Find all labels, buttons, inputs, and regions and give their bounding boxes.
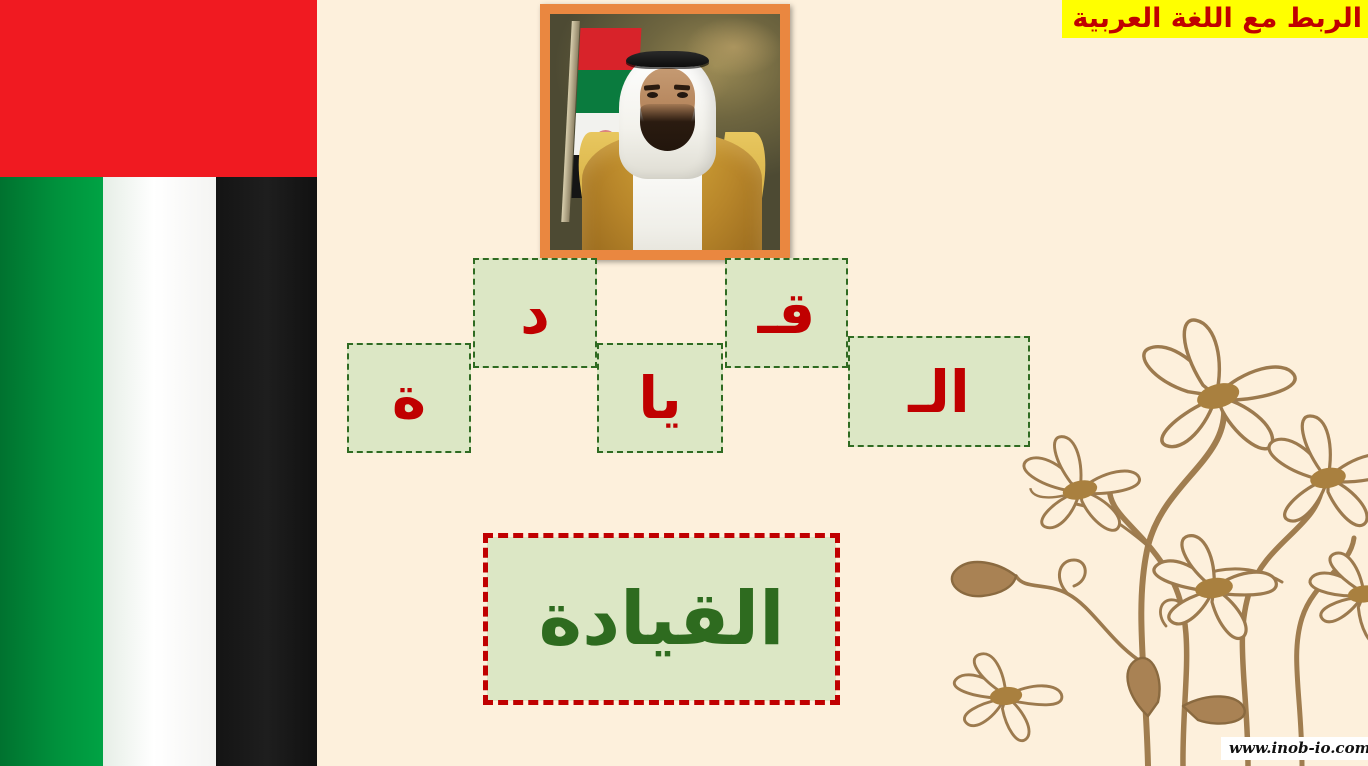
- letter-tile-qa-label: قـ: [758, 284, 816, 342]
- slide-canvas: الربط مع اللغة العربية الـ: [0, 0, 1368, 766]
- floral-decoration: [898, 246, 1368, 766]
- uae-flag-red-band: [0, 0, 317, 177]
- uae-flag-green-band: [0, 177, 103, 766]
- letter-tile-al[interactable]: الـ: [848, 336, 1030, 447]
- portrait-eyebrow-right: [674, 84, 690, 90]
- page-title: الربط مع اللغة العربية: [1062, 0, 1368, 38]
- letter-tile-ya[interactable]: يا: [597, 343, 723, 453]
- uae-flag: [0, 0, 317, 766]
- portrait-agal: [626, 51, 709, 68]
- portrait-eye-right: [677, 92, 689, 98]
- watermark: www.inob-io.com: [1221, 737, 1368, 760]
- answer-word-box[interactable]: القيادة: [487, 537, 836, 701]
- letter-tile-qa[interactable]: قـ: [725, 258, 848, 368]
- letter-tile-al-label: الـ: [908, 363, 969, 421]
- uae-flag-black-band: [216, 177, 317, 766]
- portrait-image: [550, 14, 780, 250]
- letter-tile-dal-label: د: [520, 284, 550, 342]
- uae-flag-tricolour: [0, 177, 317, 766]
- letter-tile-ta-marbuta[interactable]: ة: [347, 343, 471, 453]
- letter-tile-ta-marbuta-label: ة: [392, 369, 426, 427]
- letter-tile-dal[interactable]: د: [473, 258, 597, 368]
- portrait-eye-left: [647, 92, 659, 98]
- uae-flag-white-band: [103, 177, 216, 766]
- letter-tile-ya-label: يا: [638, 369, 682, 427]
- portrait-frame: [540, 4, 790, 260]
- answer-word-label: القيادة: [538, 582, 784, 656]
